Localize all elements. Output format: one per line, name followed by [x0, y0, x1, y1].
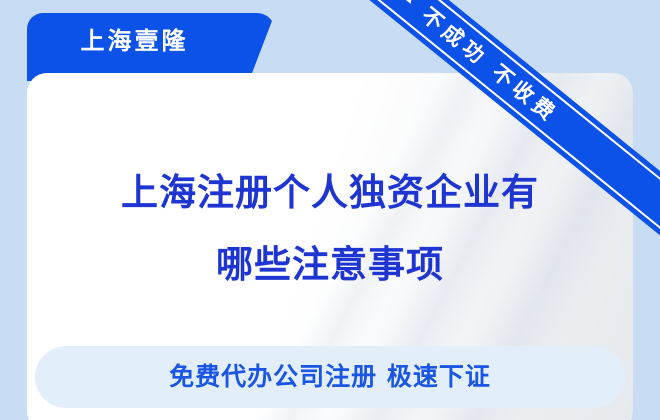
cta-banner-label: 免费代办公司注册 极速下证 [35, 346, 625, 408]
cta-banner[interactable]: 免费代办公司注册 极速下证 [35, 346, 625, 408]
page-title-line-2: 哪些注意事项 [27, 229, 633, 301]
promo-poster: 上海壹隆 上海注册个人独资企业有 哪些注意事项 免费代办公司注册 极速下证 不成… [0, 0, 660, 420]
page-title-line-1: 上海注册个人独资企业有 [27, 157, 633, 229]
brand-tab: 上海壹隆 [27, 13, 275, 81]
triangle-up-icon [403, 0, 416, 4]
brand-tab-label: 上海壹隆 [27, 25, 242, 57]
page-title: 上海注册个人独资企业有 哪些注意事项 [27, 157, 633, 301]
